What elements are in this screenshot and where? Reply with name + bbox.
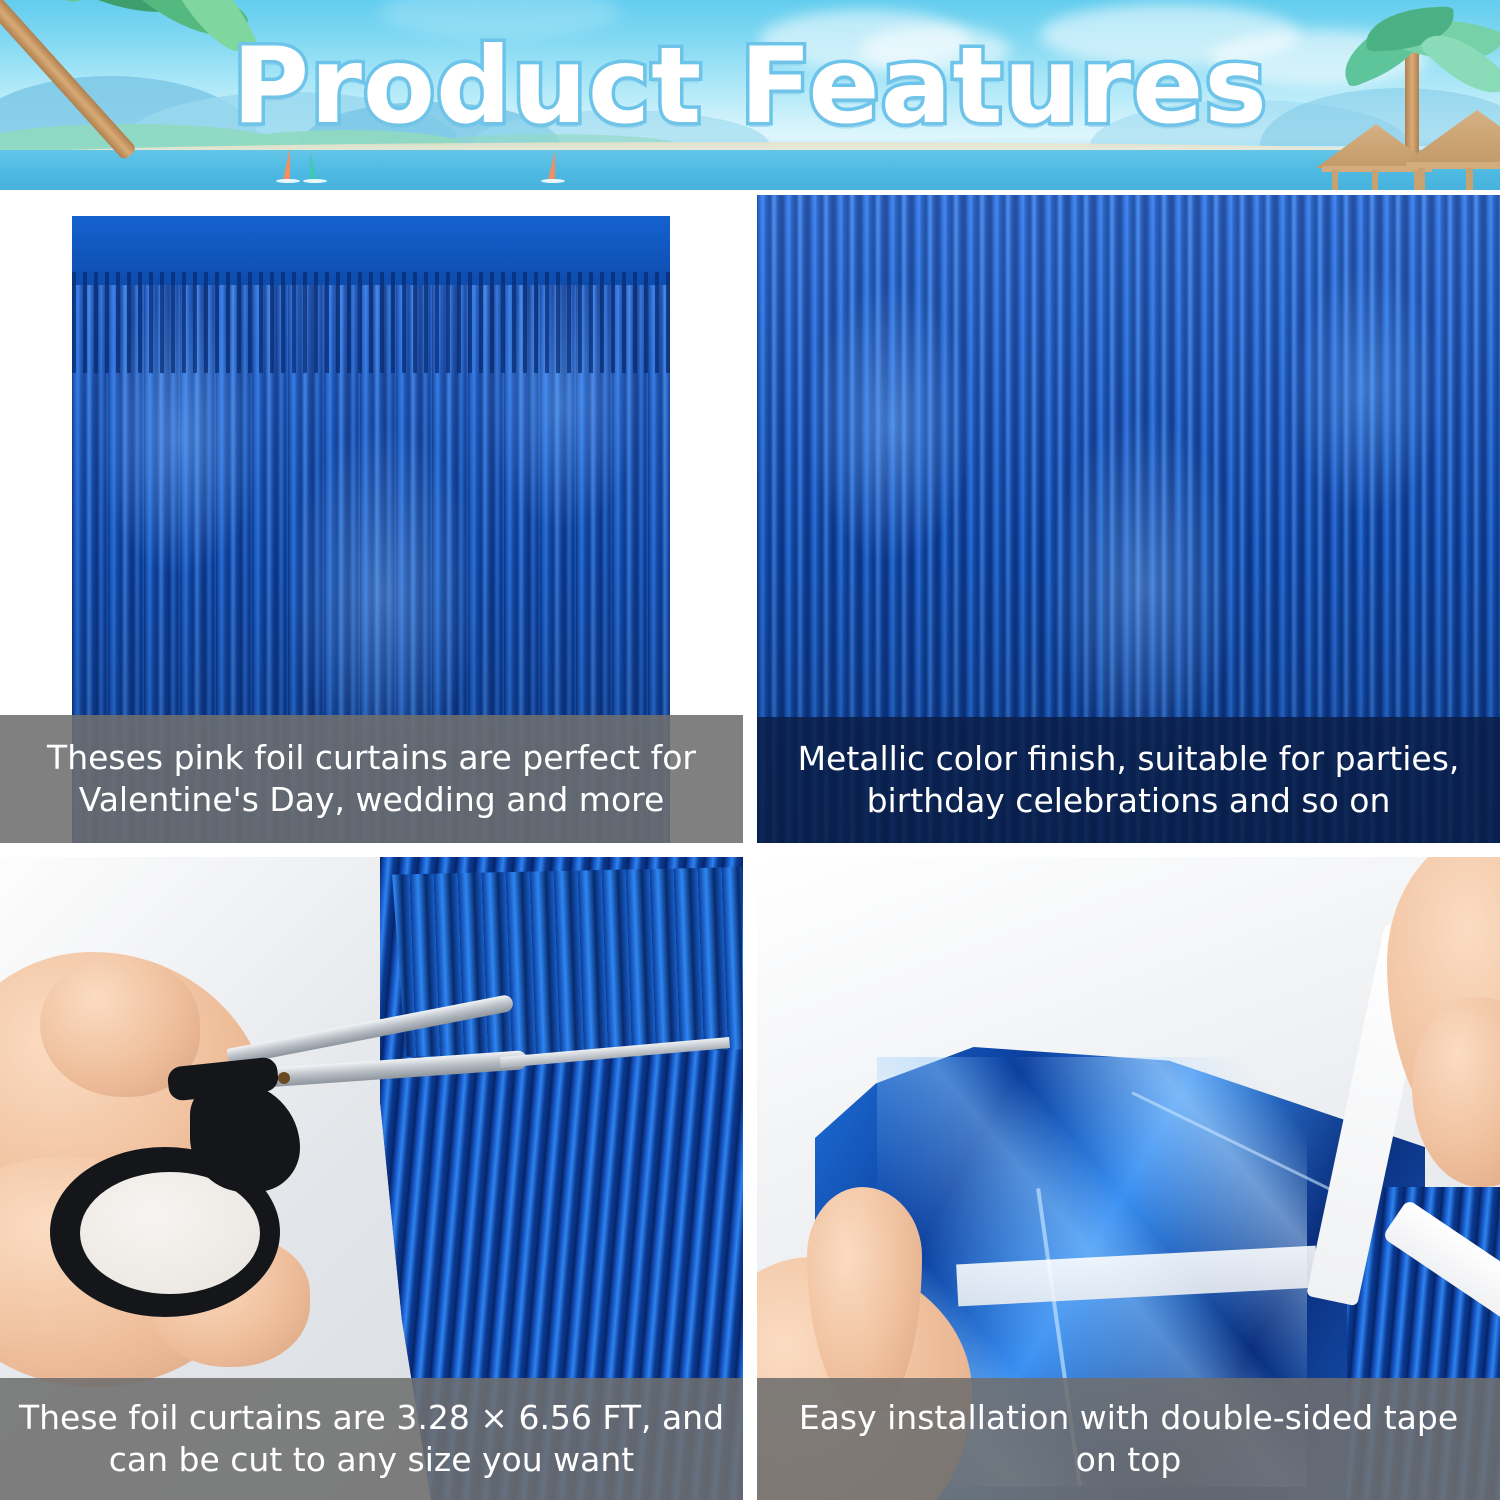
caption-text: Metallic color finish, suitable for part…: [775, 738, 1482, 822]
feature-panel-top-left: Theses pink foil curtains are perfect fo…: [0, 195, 743, 843]
caption-top-right: Metallic color finish, suitable for part…: [757, 717, 1500, 843]
header-banner: Product Features: [0, 0, 1500, 190]
product-features-infographic: Product Features Theses pink foil curtai…: [0, 0, 1500, 1500]
caption-text: Easy installation with double-sided tape…: [775, 1397, 1482, 1481]
caption-bottom-right: Easy installation with double-sided tape…: [757, 1378, 1500, 1500]
beach-hut-post: [1466, 168, 1473, 190]
caption-text: These foil curtains are 3.28 × 6.56 FT, …: [18, 1397, 725, 1481]
caption-text: Theses pink foil curtains are perfect fo…: [18, 737, 725, 821]
beach-hut-post: [1332, 170, 1338, 190]
foil-curtain-highlight: [392, 867, 742, 1057]
feature-panel-bottom-right: Easy installation with double-sided tape…: [757, 857, 1500, 1500]
beach-hut-post: [1372, 170, 1378, 190]
sailboat-icon: [310, 152, 317, 180]
caption-bottom-left: These foil curtains are 3.28 × 6.56 FT, …: [0, 1378, 743, 1500]
sailboat-icon: [548, 150, 555, 180]
scissor-screw: [278, 1072, 290, 1084]
page-title: Product Features: [0, 34, 1500, 139]
ocean-water: [0, 150, 1500, 190]
feature-panel-bottom-left: These foil curtains are 3.28 × 6.56 FT, …: [0, 857, 743, 1500]
sailboat-icon: [283, 148, 290, 180]
feature-panel-top-right: Metallic color finish, suitable for part…: [757, 195, 1500, 843]
beach-hut-post: [1418, 168, 1425, 190]
caption-top-left: Theses pink foil curtains are perfect fo…: [0, 715, 743, 843]
fringe-teeth: [72, 272, 670, 372]
